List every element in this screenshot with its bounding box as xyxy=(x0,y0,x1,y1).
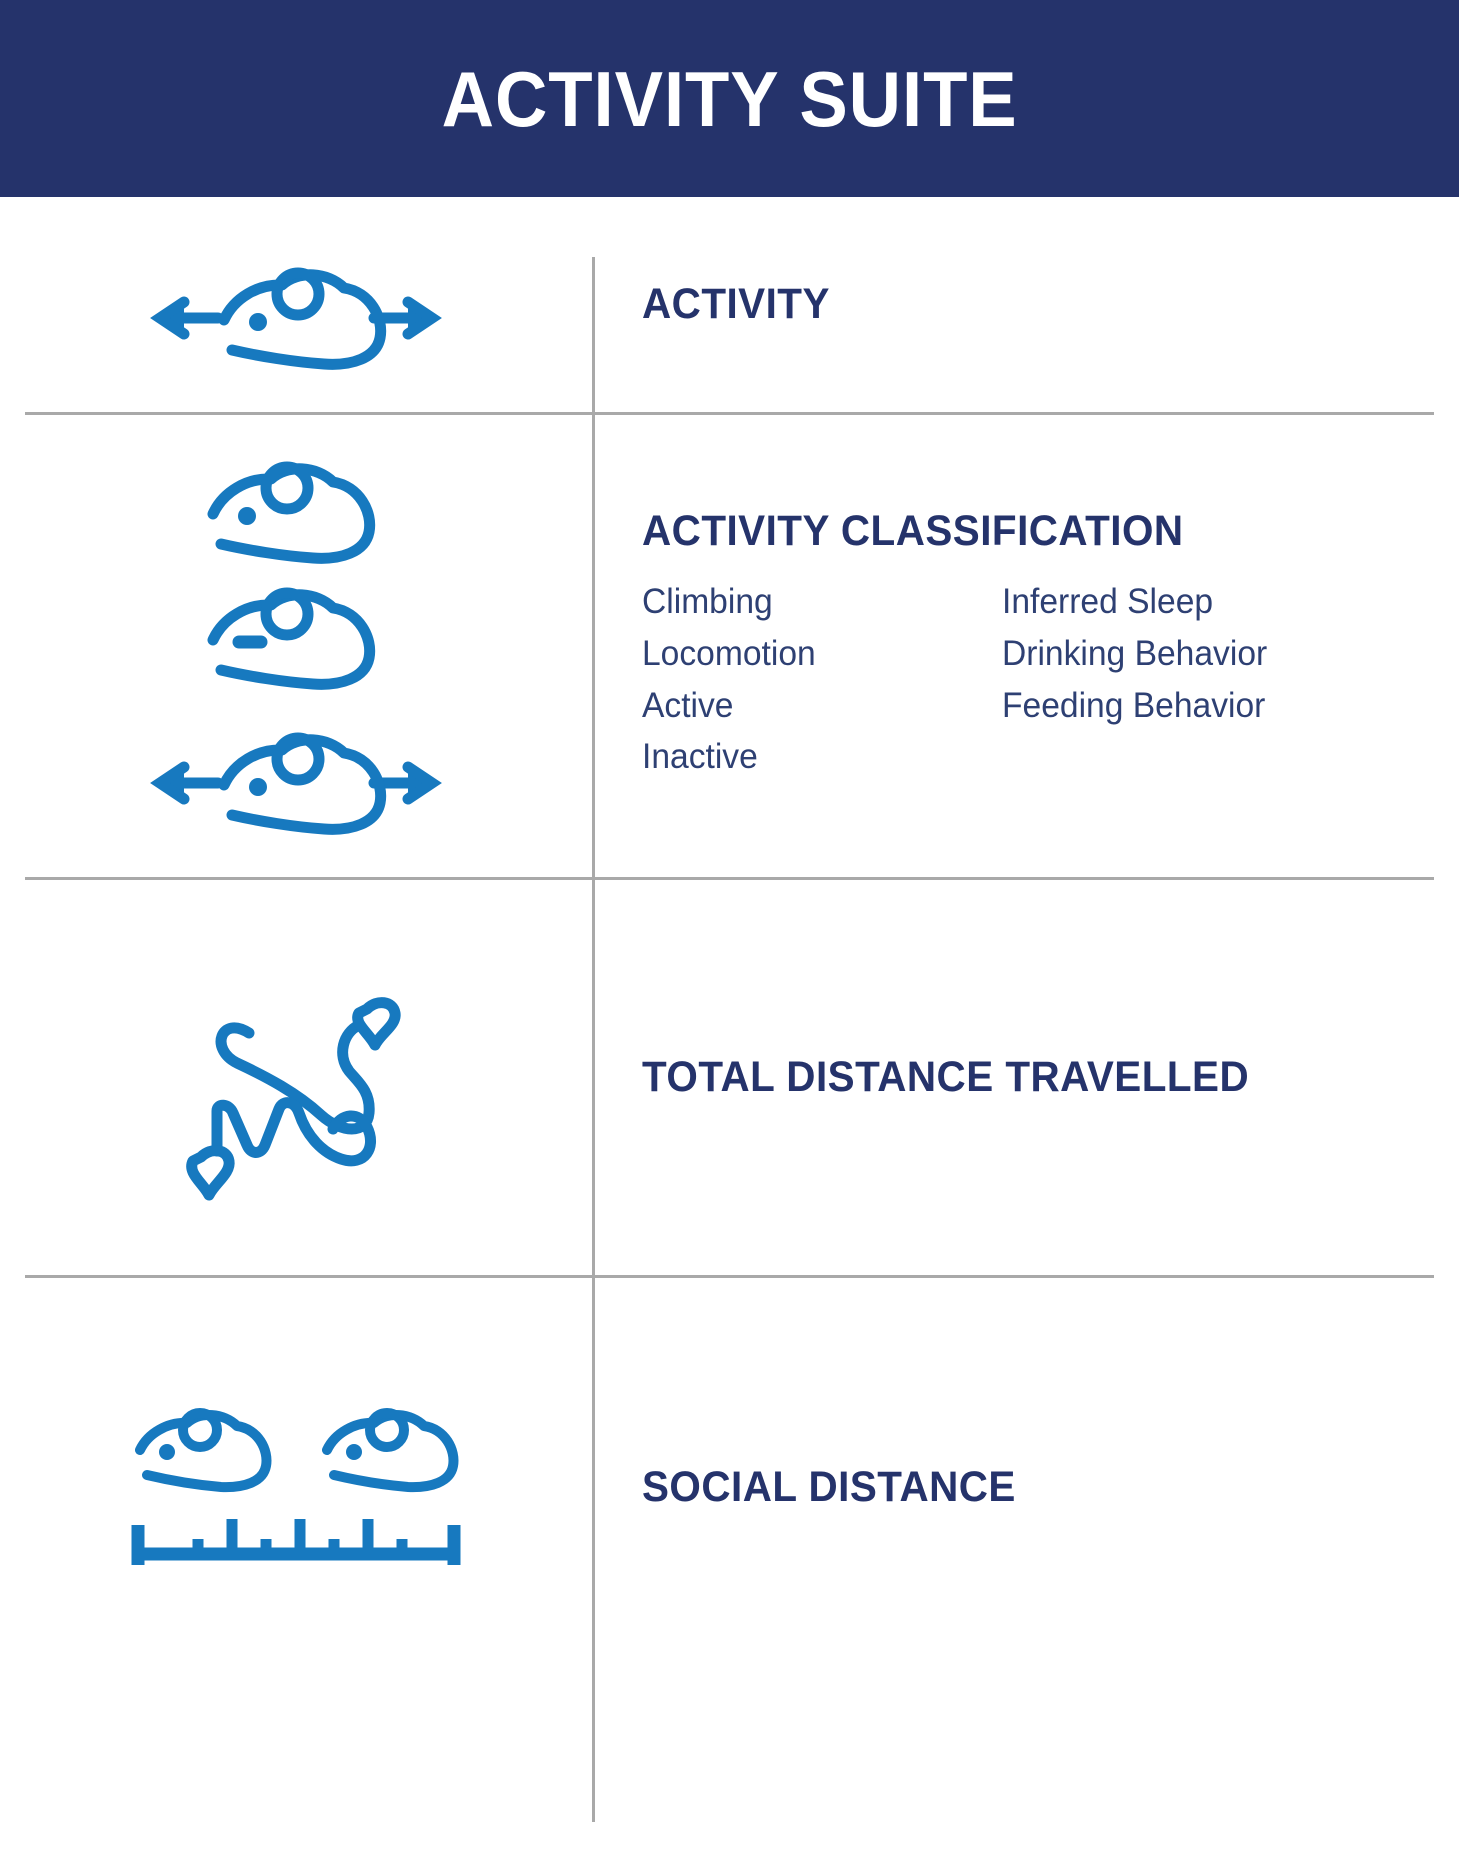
ruler-icon xyxy=(134,1519,458,1565)
row-classification-icon-cell xyxy=(0,415,592,877)
mouse-right-icon xyxy=(327,1413,453,1487)
row-distance-icon-cell xyxy=(0,880,592,1275)
row-social-distance-text-cell: SOCIAL DISTANCE xyxy=(592,1278,1459,1698)
row-title-activity-classification: ACTIVITY CLASSIFICATION xyxy=(642,509,1410,554)
row-title-social-distance: SOCIAL DISTANCE xyxy=(642,1465,1410,1510)
row-social-distance: SOCIAL DISTANCE xyxy=(0,1278,1459,1698)
three-mice-stack-icon xyxy=(146,459,446,833)
row-total-distance-travelled: TOTAL DISTANCE TRAVELLED xyxy=(0,880,1459,1275)
mouse-with-bidirectional-arrows-icon xyxy=(146,240,446,370)
classification-item-climbing: Climbing xyxy=(642,576,988,628)
row-activity-text-cell: ACTIVITY xyxy=(592,197,1459,412)
classification-column-right: Inferred Sleep Drinking Behavior Feeding… xyxy=(1002,576,1422,783)
row-distance-text-cell: TOTAL DISTANCE TRAVELLED xyxy=(592,880,1459,1275)
row-activity-classification: ACTIVITY CLASSIFICATION Climbing Locomot… xyxy=(0,415,1459,877)
classification-item-active: Active xyxy=(642,680,988,732)
row-activity-icon-cell xyxy=(0,197,592,412)
classification-item-drinking-behavior: Drinking Behavior xyxy=(1002,628,1405,680)
mouse-left-icon xyxy=(140,1413,266,1487)
header-banner: ACTIVITY SUITE xyxy=(0,0,1459,197)
mouse-locomotion-icon xyxy=(146,711,446,833)
classification-item-inactive: Inactive xyxy=(642,731,988,783)
row-title-activity: ACTIVITY xyxy=(642,282,1410,327)
classification-item-feeding-behavior: Feeding Behavior xyxy=(1002,680,1405,732)
mouse-asleep-icon xyxy=(201,585,391,697)
page-title: ACTIVITY SUITE xyxy=(442,60,1018,138)
row-classification-text-cell: ACTIVITY CLASSIFICATION Climbing Locomot… xyxy=(592,415,1459,877)
classification-column-left: Climbing Locomotion Active Inactive xyxy=(642,576,1002,783)
rows-container: ACTIVITY xyxy=(0,197,1459,1875)
classification-item-inferred-sleep: Inferred Sleep xyxy=(1002,576,1405,628)
classification-lists: Climbing Locomotion Active Inactive Infe… xyxy=(642,576,1459,783)
row-activity: ACTIVITY xyxy=(0,197,1459,412)
mouse-awake-icon xyxy=(201,459,391,571)
row-social-distance-icon-cell xyxy=(0,1278,592,1698)
infographic-page: ACTIVITY SUITE xyxy=(0,0,1459,1875)
row-title-total-distance-travelled: TOTAL DISTANCE TRAVELLED xyxy=(642,1055,1410,1100)
two-mice-with-ruler-icon xyxy=(126,1406,466,1571)
classification-item-locomotion: Locomotion xyxy=(642,628,988,680)
winding-path-with-map-pins-icon xyxy=(181,963,411,1193)
